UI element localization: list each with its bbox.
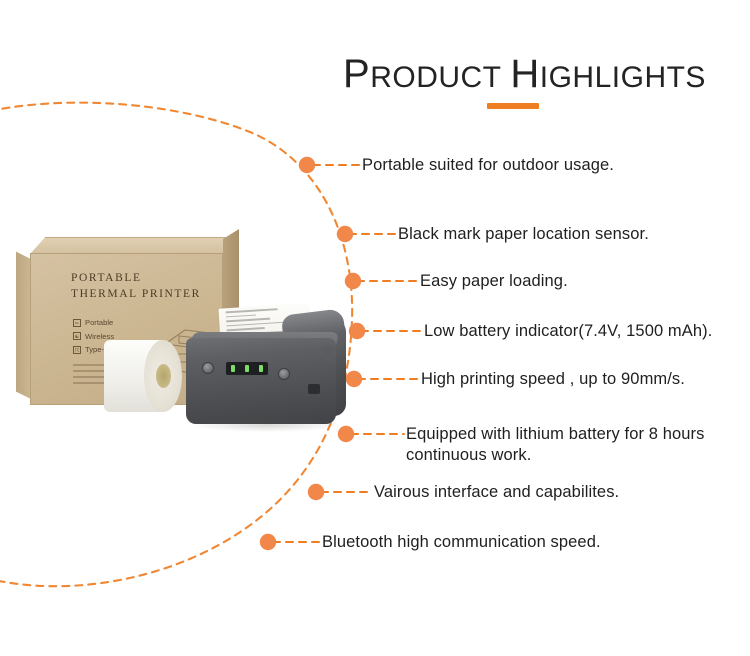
portable-icon: ✏ — [73, 319, 81, 327]
page-title-text: PRODUCT HIGHLIGHTS — [343, 52, 703, 100]
power-button[interactable] — [202, 362, 214, 374]
node-dot-7 — [308, 484, 324, 500]
page-title: PRODUCT HIGHLIGHTS — [343, 52, 703, 100]
highlight-item-lithium-battery: Equipped with lithium battery for 8 hour… — [406, 424, 705, 466]
package-feature-row: ✏ Portable — [73, 316, 133, 330]
printer-indicator-panel — [226, 362, 268, 375]
feed-button[interactable] — [278, 368, 290, 380]
title-cap-h: H — [510, 52, 539, 96]
product-photo: PORTABLE THERMAL PRINTER ✏ Portable ☯ Wi… — [8, 215, 353, 475]
highlight-item-bluetooth-speed: Bluetooth high communication speed. — [322, 532, 601, 553]
printer-side-notch — [324, 346, 332, 362]
highlight-item-black-mark-sensor: Black mark paper location sensor. — [398, 224, 649, 245]
title-cap-p: P — [343, 52, 370, 96]
paper-roll-core — [156, 364, 171, 388]
node-dot-8 — [260, 534, 276, 550]
status-led — [231, 365, 235, 372]
usb-c-port — [308, 384, 320, 394]
thermal-printer — [186, 310, 354, 445]
highlight-item-various-interface: Vairous interface and capabilites. — [374, 482, 619, 503]
usb-c-icon: ☈ — [73, 346, 81, 354]
highlight-item-portable-outdoor: Portable suited for outdoor usage. — [362, 155, 614, 176]
package-top-face — [30, 237, 238, 254]
status-led — [245, 365, 249, 372]
node-dot-1 — [299, 157, 315, 173]
package-title-line-2: THERMAL PRINTER — [71, 286, 201, 302]
package-title-line-1: PORTABLE — [71, 270, 201, 286]
package-feature-label: Portable — [85, 316, 113, 330]
printer-shadow — [192, 418, 342, 432]
printer-body — [186, 338, 336, 424]
title-rest-ighlights: IGHLIGHTS — [540, 61, 706, 94]
status-led — [259, 365, 263, 372]
title-accent-bar — [487, 103, 539, 109]
highlight-item-low-battery-indicator: Low battery indicator(7.4V, 1500 mAh). — [424, 321, 712, 342]
package-title: PORTABLE THERMAL PRINTER — [71, 270, 201, 302]
wireless-icon: ☯ — [73, 332, 81, 340]
package-left-flap — [16, 252, 31, 399]
highlight-item-high-printing-speed: High printing speed , up to 90mm/s. — [421, 369, 685, 390]
highlight-item-easy-paper-loading: Easy paper loading. — [420, 271, 568, 292]
paper-roll — [104, 340, 182, 412]
title-rest-roduct: RODUCT — [370, 61, 501, 94]
product-highlights-infographic: PRODUCT HIGHLIGHTS Portable suited for o… — [0, 0, 750, 656]
